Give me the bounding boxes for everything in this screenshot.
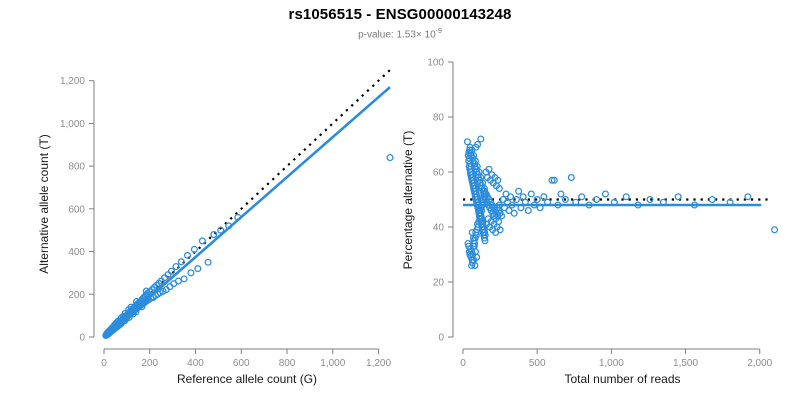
x-tick-label: 1,500	[673, 358, 698, 369]
y-tick-label: 800	[68, 162, 85, 173]
y-tick-label: 40	[433, 223, 445, 234]
y-tick-label: 20	[433, 278, 445, 289]
x-tick-label: 1,000	[599, 358, 624, 369]
data-point	[387, 155, 393, 161]
data-point	[558, 191, 564, 197]
data-point	[508, 194, 514, 200]
x-tick-label: 600	[233, 358, 250, 369]
x-axis-title: Reference allele count (G)	[177, 372, 317, 386]
regression-line	[104, 87, 390, 337]
data-point	[525, 208, 531, 214]
data-point	[465, 139, 471, 145]
data-point	[181, 276, 187, 282]
data-point	[205, 259, 211, 265]
data-point	[511, 210, 517, 216]
y-tick-label: 400	[68, 247, 85, 258]
data-point	[579, 194, 585, 200]
data-point	[188, 270, 194, 276]
y-tick-label: 600	[68, 204, 85, 215]
data-point	[675, 194, 681, 200]
x-tick-label: 1,200	[366, 358, 391, 369]
data-point	[772, 227, 778, 233]
panel-left: 02004006008001,0001,20002004006008001,00…	[37, 70, 393, 386]
data-point	[568, 175, 574, 181]
x-tick-label: 500	[529, 358, 546, 369]
y-tick-label: 1,200	[60, 76, 85, 87]
data-point	[603, 191, 609, 197]
data-point	[528, 191, 534, 197]
x-tick-label: 0	[101, 358, 107, 369]
figure-root: rs1056515 - ENSG00000143248 p-value: 1.5…	[0, 0, 800, 400]
x-tick-label: 1,000	[320, 358, 345, 369]
y-tick-label: 60	[433, 168, 445, 179]
data-point	[709, 197, 715, 203]
x-tick-label: 800	[279, 358, 296, 369]
data-points	[103, 155, 393, 339]
x-tick-label: 400	[187, 358, 204, 369]
y-tick-label: 200	[68, 290, 85, 301]
x-axis-title: Total number of reads	[564, 372, 680, 386]
data-point	[195, 266, 201, 272]
data-points	[465, 136, 778, 268]
panel-right: 02040608010005001,0001,5002,000Total num…	[401, 58, 777, 387]
data-point	[623, 194, 629, 200]
y-tick-label: 100	[427, 58, 444, 69]
data-point	[211, 232, 217, 238]
y-tick-label: 0	[79, 333, 85, 344]
x-tick-label: 0	[460, 358, 466, 369]
data-point	[478, 136, 484, 142]
data-point	[516, 188, 522, 194]
scatter-plots-svg: 02004006008001,0001,20002004006008001,00…	[0, 0, 800, 400]
x-tick-label: 2,000	[747, 358, 772, 369]
data-point	[185, 253, 191, 259]
y-tick-label: 1,000	[60, 119, 85, 130]
y-axis-title: Percentage alternative (T)	[401, 131, 415, 270]
data-point	[175, 278, 181, 284]
y-tick-label: 0	[438, 333, 444, 344]
data-point	[199, 238, 205, 244]
y-tick-label: 80	[433, 113, 445, 124]
y-axis-title: Alternative allele count (T)	[37, 134, 51, 273]
x-tick-label: 200	[141, 358, 158, 369]
data-point	[745, 194, 751, 200]
